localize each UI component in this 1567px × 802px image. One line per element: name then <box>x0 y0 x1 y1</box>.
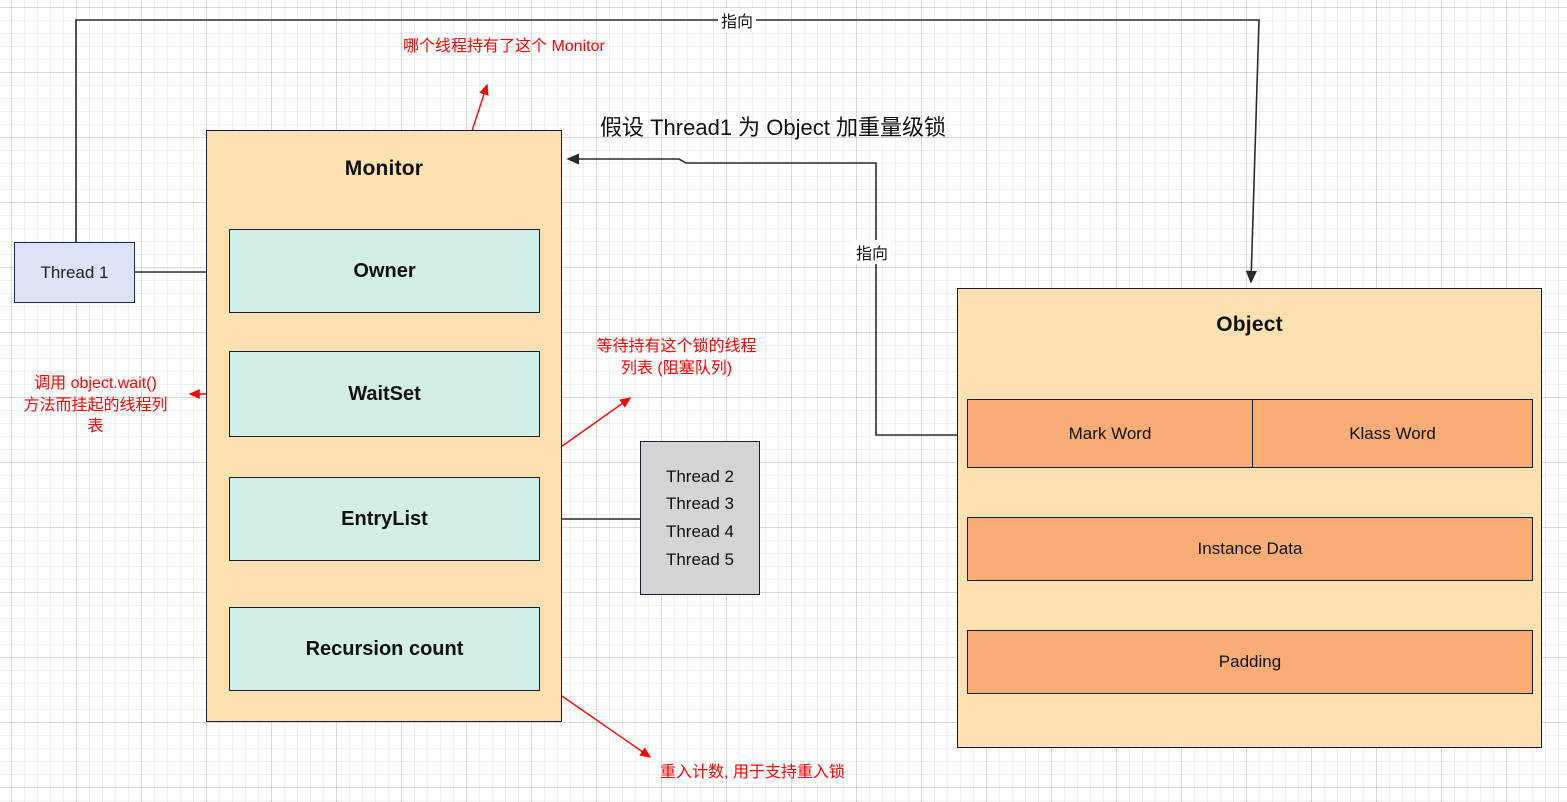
monitor-field-owner[interactable]: Owner <box>229 229 540 313</box>
object-field-instance-data[interactable]: Instance Data <box>967 517 1533 581</box>
object-field-mark-word[interactable]: Mark Word <box>967 399 1253 468</box>
edge-label-top-pointer: 指向 <box>718 8 756 32</box>
object-title: Object <box>958 313 1541 337</box>
object-field-klass-word[interactable]: Klass Word <box>1252 399 1533 468</box>
annotation-recursion-count: 重入计数, 用于支持重入锁 <box>660 762 920 784</box>
thread1-box[interactable]: Thread 1 <box>14 242 135 303</box>
list-item: Thread 5 <box>666 546 734 574</box>
list-item: Thread 2 <box>666 463 734 491</box>
annotation-waitset: 调用 object.wait() 方法而挂起的线程列 表 <box>8 373 183 438</box>
monitor-field-owner-label: Owner <box>353 260 415 283</box>
diagram-canvas: 假设 Thread1 为 Object 加重量级锁 指向 指向 Thread 1… <box>0 0 1567 802</box>
object-field-klass-word-label: Klass Word <box>1349 424 1436 444</box>
list-item: Thread 4 <box>666 518 734 546</box>
annotation-owner: 哪个线程持有了这个 Monitor <box>403 36 663 58</box>
edge-label-mid-pointer: 指向 <box>853 240 891 264</box>
object-group[interactable]: Object Mark Word Klass Word Instance Dat… <box>957 288 1542 748</box>
monitor-field-waitset-label: WaitSet <box>348 383 421 406</box>
annotation-entrylist: 等待持有这个锁的线程 列表 (阻塞队列) <box>574 336 779 379</box>
monitor-title: Monitor <box>207 157 561 181</box>
blocked-thread-list[interactable]: Thread 2 Thread 3 Thread 4 Thread 5 <box>640 441 760 595</box>
object-field-padding[interactable]: Padding <box>967 630 1533 694</box>
monitor-group[interactable]: Monitor Owner WaitSet EntryList Recursio… <box>206 130 562 722</box>
object-field-mark-word-label: Mark Word <box>1069 424 1152 444</box>
monitor-field-entrylist-label: EntryList <box>341 508 428 531</box>
monitor-field-waitset[interactable]: WaitSet <box>229 351 540 437</box>
thread1-label: Thread 1 <box>40 263 108 283</box>
monitor-field-recursion-count-label: Recursion count <box>306 638 464 661</box>
object-field-padding-label: Padding <box>1219 652 1281 672</box>
object-field-instance-data-label: Instance Data <box>1198 539 1303 559</box>
headline-text: 假设 Thread1 为 Object 加重量级锁 <box>600 110 946 142</box>
list-item: Thread 3 <box>666 490 734 518</box>
monitor-field-recursion-count[interactable]: Recursion count <box>229 607 540 691</box>
monitor-field-entrylist[interactable]: EntryList <box>229 477 540 561</box>
edge-markword-to-monitor <box>568 159 967 435</box>
